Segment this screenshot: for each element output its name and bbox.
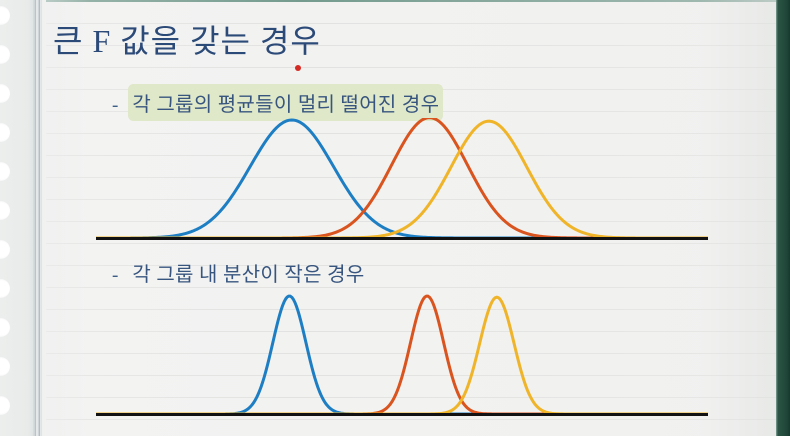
chart-bottom-svg	[96, 294, 708, 418]
laser-pointer-dot	[295, 65, 301, 71]
punch-hole	[0, 162, 10, 181]
distribution-curve-group-2	[96, 118, 708, 238]
chart-small-variance	[96, 294, 708, 418]
punch-hole	[0, 123, 10, 142]
chart-top-svg	[96, 118, 708, 242]
chart-separated-means	[96, 118, 708, 242]
bullet-text-2: 각 그룹 내 분산이 작은 경우	[132, 258, 364, 287]
distribution-curve-group-1	[96, 296, 708, 414]
bullet-item-2: - 각 그룹 내 분산이 작은 경우	[112, 258, 365, 287]
margin-rule-line	[35, 0, 36, 436]
page-title: 큰 F 값을 갖는 경우	[53, 16, 321, 62]
margin-rule-line	[41, 0, 42, 436]
distribution-curve-group-1	[96, 120, 708, 238]
punch-hole	[0, 6, 10, 25]
distribution-curve-group-3	[96, 121, 708, 238]
bullet-text-1: 각 그룹의 평균들이 멀리 떨어진 경우	[132, 88, 439, 117]
bullet-item-1: - 각 그룹의 평균들이 멀리 떨어진 경우	[112, 88, 439, 117]
punch-hole	[0, 84, 10, 103]
chart-bottom-axis	[96, 413, 708, 416]
punch-hole	[0, 240, 10, 259]
bullet-dash-icon: -	[112, 265, 118, 287]
punch-hole	[0, 357, 10, 376]
margin-rule-line	[39, 0, 40, 436]
punch-hole	[0, 318, 10, 337]
punch-hole	[0, 279, 10, 298]
binder-margin	[0, 0, 46, 436]
slide-screenshot: 큰 F 값을 갖는 경우 - 각 그룹의 평균들이 멀리 떨어진 경우 - 각 …	[0, 0, 790, 436]
punch-hole	[0, 45, 10, 64]
notebook-page: 큰 F 값을 갖는 경우 - 각 그룹의 평균들이 멀리 떨어진 경우 - 각 …	[0, 0, 776, 436]
distribution-curve-group-2	[96, 296, 708, 414]
chart-top-axis	[96, 237, 708, 240]
binder-green-edge	[776, 0, 790, 436]
bullet-dash-icon: -	[112, 95, 118, 117]
punch-hole	[0, 201, 10, 220]
distribution-curve-group-3	[96, 297, 708, 414]
margin-rule-line	[33, 0, 34, 436]
page-top-rule	[0, 0, 776, 2]
punch-hole	[0, 396, 10, 415]
